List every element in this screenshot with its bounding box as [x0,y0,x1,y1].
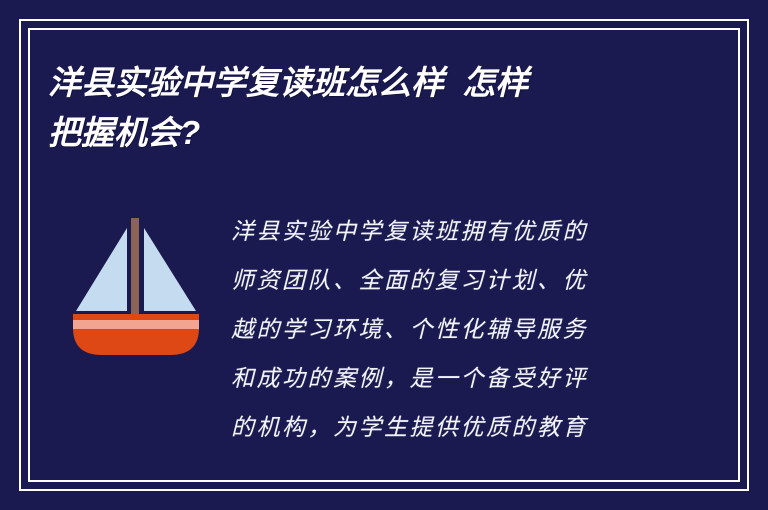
poster-canvas: 洋县实验中学复读班怎么样 怎样 把握机会? 洋县实验中学复读班拥有优质的 师资团… [0,0,768,510]
body-line: 洋县实验中学复读班拥有优质的 [231,219,588,245]
body-line: 和成功的案例，是一个备受好评 [231,366,588,392]
left-sail-shape [76,228,127,311]
right-sail-shape [144,228,196,311]
sailboat-icon [70,212,202,357]
body-line: 师资团队、全面的复习计划、优 [231,268,588,294]
hull-stripe-shape [73,320,199,329]
page-title: 洋县实验中学复读班怎么样 怎样 把握机会? [48,58,648,158]
body-line: 越的学习环境、个性化辅导服务 [231,317,588,343]
page-title-line-2: 把握机会? [48,114,200,151]
body-paragraph: 洋县实验中学复读班拥有优质的 师资团队、全面的复习计划、优 越的学习环境、个性化… [231,208,651,453]
page-title-line-1: 洋县实验中学复读班怎么样 怎样 [48,64,528,101]
body-line: 的机构，为学生提供优质的教育 [231,415,588,441]
mast-shape [131,218,139,319]
